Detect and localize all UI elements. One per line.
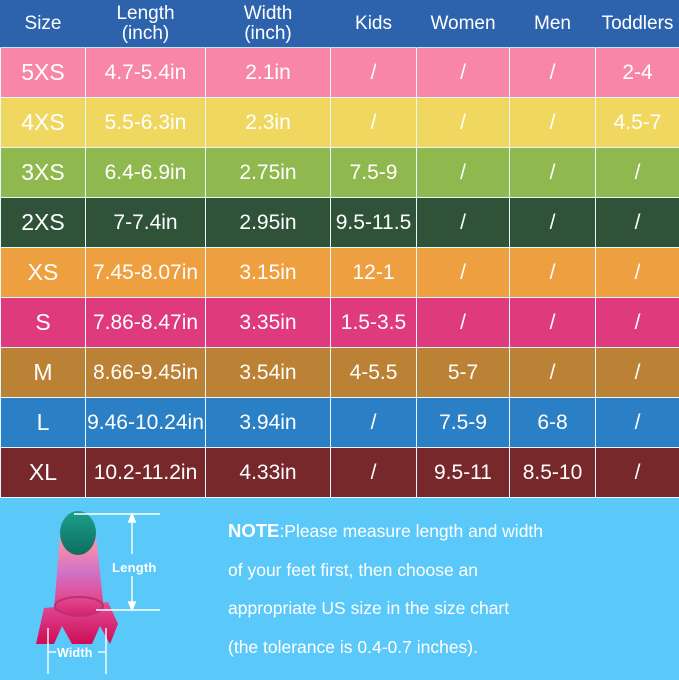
cell-width: 4.33in <box>206 448 331 498</box>
column-header-men-main: Men <box>534 13 571 34</box>
cell-size: 2XS <box>1 198 86 248</box>
cell-size: L <box>1 398 86 448</box>
cell-men: / <box>510 98 596 148</box>
note-area: Length Width NOTE:Please measure length … <box>0 498 679 675</box>
note-line-2: of your feet first, then choose an <box>228 562 669 580</box>
column-header-kids-main: Kids <box>355 13 392 34</box>
cell-width: 2.3in <box>206 98 331 148</box>
column-header-men: Men <box>510 1 596 48</box>
cell-men: / <box>510 348 596 398</box>
note-line-1-text: :Please measure length and width <box>279 521 543 541</box>
cell-toddlers: / <box>596 398 679 448</box>
cell-length: 7-7.4in <box>86 198 206 248</box>
column-header-women: Women <box>417 1 510 48</box>
cell-length: 8.66-9.45in <box>86 348 206 398</box>
table-row: 5XS4.7-5.4in2.1in///2-4 <box>1 48 679 98</box>
cell-men: / <box>510 298 596 348</box>
length-measure-label: Length <box>112 560 157 575</box>
cell-women: / <box>417 148 510 198</box>
cell-width: 2.1in <box>206 48 331 98</box>
table-row: S7.86-8.47in3.35in1.5-3.5/// <box>1 298 679 348</box>
cell-women: / <box>417 298 510 348</box>
cell-width: 3.15in <box>206 248 331 298</box>
table-row: L9.46-10.24in3.94in/7.5-96-8/ <box>1 398 679 448</box>
column-header-kids: Kids <box>331 1 417 48</box>
column-header-length-sub: (inch) <box>86 24 205 44</box>
size-chart-page: Size Length (inch) Width (inch) Kids Wom… <box>0 0 679 679</box>
column-header-width-main: Width <box>244 3 293 24</box>
column-header-toddlers-main: Toddlers <box>602 13 674 34</box>
column-header-length-main: Length <box>116 3 174 24</box>
cell-width: 3.94in <box>206 398 331 448</box>
cell-men: / <box>510 248 596 298</box>
cell-kids: / <box>331 98 417 148</box>
cell-toddlers: / <box>596 148 679 198</box>
note-panel: NOTE:Please measure length and width of … <box>210 498 679 675</box>
cell-toddlers: / <box>596 198 679 248</box>
fin-toe-cap <box>60 511 96 555</box>
cell-width: 3.54in <box>206 348 331 398</box>
note-line-1: NOTE:Please measure length and width <box>228 522 669 541</box>
cell-women: 7.5-9 <box>417 398 510 448</box>
cell-width: 2.75in <box>206 148 331 198</box>
note-line-4: (the tolerance is 0.4-0.7 inches). <box>228 639 669 657</box>
cell-women: / <box>417 98 510 148</box>
table-body: 5XS4.7-5.4in2.1in///2-44XS5.5-6.3in2.3in… <box>1 48 679 498</box>
column-header-size: Size <box>1 1 86 48</box>
cell-women: 9.5-11 <box>417 448 510 498</box>
note-line-3: appropriate US size in the size chart <box>228 600 669 618</box>
cell-size: 3XS <box>1 148 86 198</box>
cell-length: 7.45-8.07in <box>86 248 206 298</box>
size-chart-table: Size Length (inch) Width (inch) Kids Wom… <box>0 0 679 498</box>
cell-width: 2.95in <box>206 198 331 248</box>
table-row: 2XS7-7.4in2.95in9.5-11.5/// <box>1 198 679 248</box>
cell-kids: 4-5.5 <box>331 348 417 398</box>
cell-length: 7.86-8.47in <box>86 298 206 348</box>
cell-kids: 7.5-9 <box>331 148 417 198</box>
cell-women: 5-7 <box>417 348 510 398</box>
column-header-toddlers: Toddlers <box>596 1 679 48</box>
cell-men: 6-8 <box>510 398 596 448</box>
cell-toddlers: / <box>596 298 679 348</box>
fin-illustration: Length Width <box>0 498 210 675</box>
note-label: NOTE <box>228 520 279 541</box>
column-header-length: Length (inch) <box>86 1 206 48</box>
cell-size: M <box>1 348 86 398</box>
cell-toddlers: / <box>596 348 679 398</box>
cell-length: 4.7-5.4in <box>86 48 206 98</box>
cell-men: 8.5-10 <box>510 448 596 498</box>
cell-kids: 9.5-11.5 <box>331 198 417 248</box>
cell-toddlers: 2-4 <box>596 48 679 98</box>
cell-length: 5.5-6.3in <box>86 98 206 148</box>
cell-kids: / <box>331 48 417 98</box>
cell-size: S <box>1 298 86 348</box>
cell-kids: / <box>331 398 417 448</box>
cell-kids: / <box>331 448 417 498</box>
width-measure-label: Width <box>57 646 93 660</box>
cell-length: 10.2-11.2in <box>86 448 206 498</box>
cell-toddlers: / <box>596 448 679 498</box>
cell-kids: 12-1 <box>331 248 417 298</box>
column-header-width-sub: (inch) <box>206 24 330 44</box>
cell-men: / <box>510 148 596 198</box>
swim-fin-icon <box>0 498 210 675</box>
cell-size: 5XS <box>1 48 86 98</box>
cell-kids: 1.5-3.5 <box>331 298 417 348</box>
cell-women: / <box>417 198 510 248</box>
cell-length: 6.4-6.9in <box>86 148 206 198</box>
table-header: Size Length (inch) Width (inch) Kids Wom… <box>1 1 679 48</box>
cell-men: / <box>510 48 596 98</box>
cell-size: XL <box>1 448 86 498</box>
cell-size: XS <box>1 248 86 298</box>
table-row: M8.66-9.45in3.54in4-5.55-7// <box>1 348 679 398</box>
cell-size: 4XS <box>1 98 86 148</box>
column-header-width: Width (inch) <box>206 1 331 48</box>
cell-length: 9.46-10.24in <box>86 398 206 448</box>
cell-toddlers: / <box>596 248 679 298</box>
cell-women: / <box>417 48 510 98</box>
cell-toddlers: 4.5-7 <box>596 98 679 148</box>
table-row: 4XS5.5-6.3in2.3in///4.5-7 <box>1 98 679 148</box>
table-row: 3XS6.4-6.9in2.75in7.5-9/// <box>1 148 679 198</box>
cell-women: / <box>417 248 510 298</box>
table-row: XS7.45-8.07in3.15in12-1/// <box>1 248 679 298</box>
table-row: XL10.2-11.2in4.33in/9.5-118.5-10/ <box>1 448 679 498</box>
column-header-women-main: Women <box>430 13 495 34</box>
cell-men: / <box>510 198 596 248</box>
column-header-size-main: Size <box>25 13 62 34</box>
cell-width: 3.35in <box>206 298 331 348</box>
table-header-row: Size Length (inch) Width (inch) Kids Wom… <box>1 1 679 48</box>
